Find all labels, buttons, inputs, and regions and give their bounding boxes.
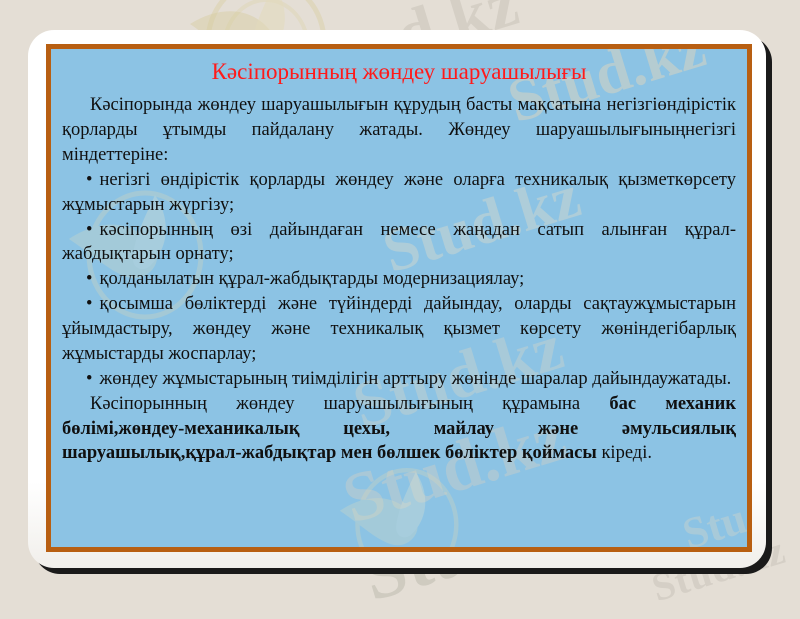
bullet-marker: • [86, 294, 99, 314]
list-item-text: қосымша бөліктерді және түйіндерді дайын… [62, 294, 736, 364]
content-panel: Stud.kz Stud.kz Stud.kz Stud.kz Stud.kz … [46, 44, 752, 552]
intro-paragraph: Кәсіпорында жөндеу шаруашылығын құрудың … [62, 93, 736, 168]
list-item: •кәсіпорынның өзі дайындаған немесе жаңа… [62, 218, 736, 268]
closing-paragraph: Кәсіпорынның жөндеу шаруашылығының құрам… [62, 392, 736, 467]
closing-tail-text: кіреді. [597, 443, 652, 463]
slide-page: Stud.kz Stud.kz Stud.kz Stud.kz Stud.kz … [0, 0, 800, 600]
page-title: Кәсіпорынның жөндеу шаруашылығы [62, 58, 736, 85]
list-item: •қолданылатын құрал-жабдықтарды модерниз… [62, 267, 736, 292]
list-item-text: жөндеу жұмыстарының тиімділігін арттыру … [99, 369, 731, 389]
list-item: •негізгі өндірістік қорларды жөндеу және… [62, 168, 736, 218]
list-item: •қосымша бөліктерді және түйіндерді дайы… [62, 292, 736, 367]
panel-watermark-text: Stud.kz [677, 469, 752, 552]
list-item: •жөндеу жұмыстарының тиімділігін арттыру… [62, 367, 736, 392]
bullet-marker: • [86, 369, 99, 389]
list-item-text: негізгі өндірістік қорларды жөндеу және … [62, 170, 736, 215]
bullet-marker: • [86, 269, 99, 289]
list-item-text: қолданылатын құрал-жабдықтарды модерниза… [99, 269, 524, 289]
list-item-text: кәсіпорынның өзі дайындаған немесе жаңад… [62, 220, 736, 265]
bullet-marker: • [86, 220, 99, 240]
closing-lead-text: Кәсіпорынның жөндеу шаруашылығының құрам… [90, 394, 609, 414]
bullet-marker: • [86, 170, 99, 190]
slide-content: Кәсіпорынның жөндеу шаруашылығы Кәсіпоры… [51, 49, 747, 466]
